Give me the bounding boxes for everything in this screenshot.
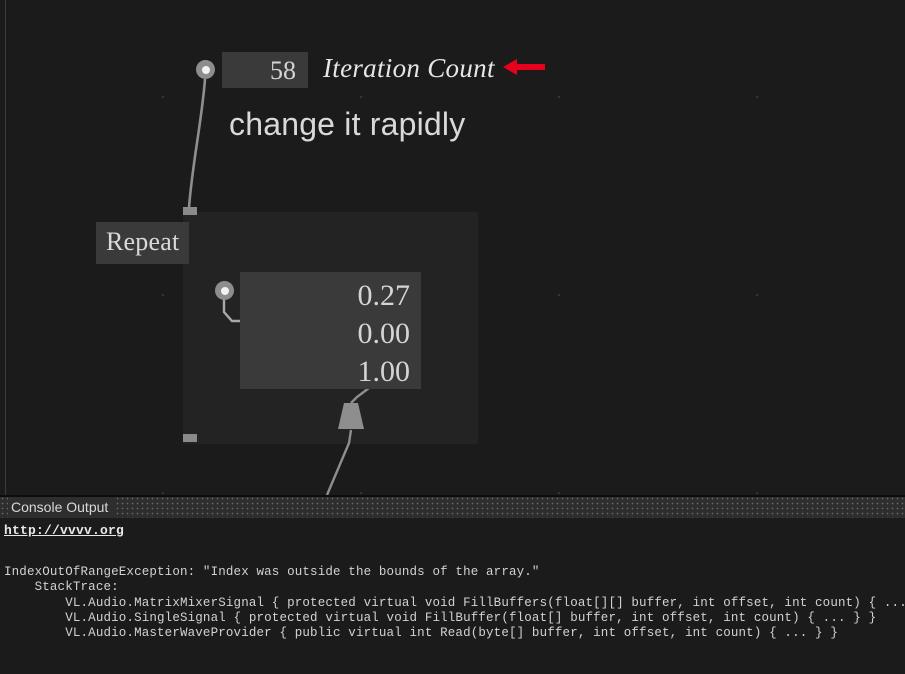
iteration-count-iobox[interactable]: 58 [222,52,308,88]
console-spacer [4,538,905,565]
console-stacktrace-line: VL.Audio.MatrixMixerSignal { protected v… [4,596,905,611]
values-iobox[interactable]: 0.27 0.00 1.00 [240,272,421,389]
iteration-input-pin[interactable] [196,60,215,79]
values-input-pin[interactable] [215,281,234,300]
console-stacktrace-line: VL.Audio.MasterWaveProvider { public vir… [4,626,905,641]
iteration-count-label: Iteration Count [323,52,495,85]
console-exception-line: IndexOutOfRangeException: "Index was out… [4,565,905,580]
console-title: Console Output [8,497,115,518]
red-arrow-icon [503,55,545,79]
vvvv-org-link[interactable]: http://vvvv.org [4,523,124,538]
console-stacktrace-line: VL.Audio.SingleSignal { protected virtua… [4,611,905,626]
value-line: 1.00 [250,353,410,391]
console-stacktrace-label: StackTrace: [4,580,905,595]
console-titlebar[interactable]: Console Output [0,497,905,518]
patch-canvas[interactable]: Repeat 58 Iteration Count change it rapi… [0,0,905,495]
value-line: 0.00 [250,315,410,353]
value-line: 0.27 [250,277,410,315]
console-output-panel[interactable]: Console Output http://vvvv.org IndexOutO… [0,495,905,672]
console-body[interactable]: http://vvvv.org IndexOutOfRangeException… [0,518,905,674]
pad-node[interactable] [337,403,365,430]
annotation-text: change it rapidly [229,105,465,143]
